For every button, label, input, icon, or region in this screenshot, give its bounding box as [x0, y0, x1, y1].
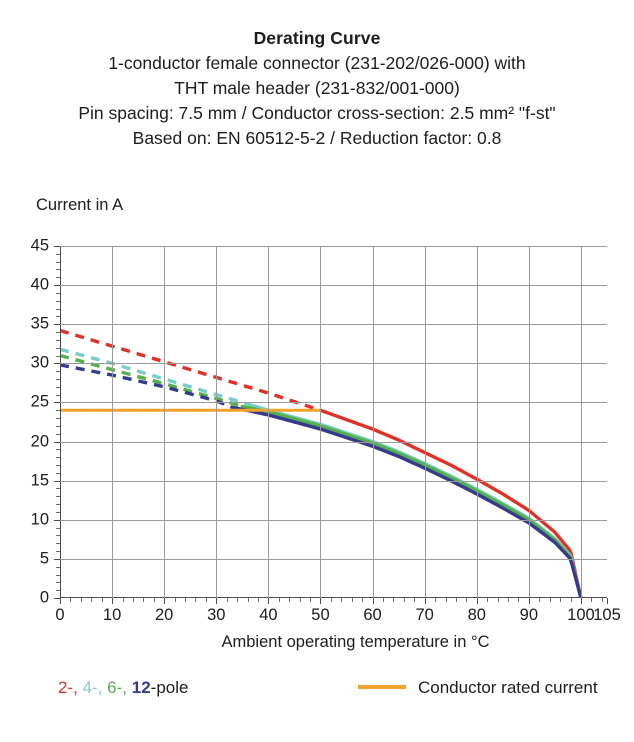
- y-axis-minor-tick: [56, 309, 60, 310]
- y-axis-minor-tick: [56, 316, 60, 317]
- title-subline-1: 1-conductor female connector (231-202/02…: [0, 51, 634, 76]
- y-axis-minor-tick: [56, 262, 60, 263]
- y-axis-minor-tick: [56, 457, 60, 458]
- title-subline-3: Pin spacing: 7.5 mm / Conductor cross-se…: [0, 101, 634, 126]
- y-axis-tick-label: 5: [40, 549, 49, 568]
- y-axis-tick-label: 25: [31, 393, 49, 412]
- x-axis-tick-label: 20: [155, 606, 173, 625]
- gridline-horizontal: [60, 442, 607, 443]
- y-axis-minor-tick: [56, 418, 60, 419]
- y-axis-minor-tick: [56, 488, 60, 489]
- x-axis-minor-tick: [237, 598, 238, 602]
- gridline-horizontal: [60, 246, 607, 247]
- x-axis-minor-tick: [466, 598, 467, 602]
- x-axis-tick: [320, 598, 321, 604]
- x-axis-minor-tick: [341, 598, 342, 602]
- y-axis-tick-label: 10: [31, 510, 49, 529]
- legend-item-2-pole: 2-: [58, 678, 73, 697]
- x-axis-minor-tick: [300, 598, 301, 602]
- y-axis-minor-tick: [56, 395, 60, 396]
- x-axis-minor-tick: [393, 598, 394, 602]
- y-axis-minor-tick: [56, 473, 60, 474]
- x-axis-minor-tick: [258, 598, 259, 602]
- y-axis-tick: [54, 285, 60, 286]
- x-axis-minor-tick: [227, 598, 228, 602]
- gridline-vertical: [373, 246, 374, 598]
- chart-legend: 2-, 4-, 6-, 12-pole Conductor rated curr…: [0, 678, 634, 718]
- x-axis-minor-tick: [571, 598, 572, 602]
- y-axis-minor-tick: [56, 410, 60, 411]
- legend-rated-current: Conductor rated current: [358, 678, 598, 698]
- x-axis-tick: [216, 598, 217, 604]
- y-axis-tick: [54, 402, 60, 403]
- x-axis-minor-tick: [331, 598, 332, 602]
- chart-title-block: Derating Curve 1-conductor female connec…: [0, 26, 634, 151]
- y-axis-minor-tick: [56, 426, 60, 427]
- x-axis-minor-tick: [550, 598, 551, 602]
- y-axis-minor-tick: [56, 254, 60, 255]
- y-axis-tick: [54, 442, 60, 443]
- x-axis-minor-tick: [456, 598, 457, 602]
- gridline-horizontal: [60, 481, 607, 482]
- x-axis-minor-tick: [279, 598, 280, 602]
- x-axis-tick-label: 0: [55, 606, 64, 625]
- x-axis-minor-tick: [591, 598, 592, 602]
- derating-chart: Current in A 051015202530354045010203040…: [0, 196, 634, 742]
- x-axis-minor-tick: [206, 598, 207, 602]
- x-axis-minor-tick: [289, 598, 290, 602]
- x-axis-tick: [425, 598, 426, 604]
- y-axis-tick: [54, 520, 60, 521]
- gridline-vertical: [268, 246, 269, 598]
- y-axis-tick-label: 0: [40, 589, 49, 608]
- y-axis-minor-tick: [56, 512, 60, 513]
- y-axis-minor-tick: [56, 332, 60, 333]
- y-axis-minor-tick: [56, 356, 60, 357]
- gridline-horizontal: [60, 363, 607, 364]
- gridline-horizontal: [60, 324, 607, 325]
- gridline-vertical: [425, 246, 426, 598]
- legend-item-4-pole: 4-: [83, 678, 98, 697]
- y-axis-tick-label: 40: [31, 276, 49, 295]
- x-axis-minor-tick: [518, 598, 519, 602]
- y-axis-minor-tick: [56, 434, 60, 435]
- plot-frame: [60, 246, 607, 598]
- gridline-vertical: [477, 246, 478, 598]
- y-axis-minor-tick: [56, 535, 60, 536]
- gridline-horizontal: [60, 520, 607, 521]
- x-axis-minor-tick: [539, 598, 540, 602]
- y-axis-minor-tick: [56, 551, 60, 552]
- plot-area: 0510152025303540450102030405060708090100…: [60, 246, 607, 598]
- x-axis-minor-tick: [508, 598, 509, 602]
- x-axis-minor-tick: [414, 598, 415, 602]
- y-axis-minor-tick: [56, 371, 60, 372]
- x-axis-tick: [268, 598, 269, 604]
- x-axis-minor-tick: [362, 598, 363, 602]
- x-axis-tick-label: 100: [567, 606, 595, 625]
- y-axis-minor-tick: [56, 504, 60, 505]
- y-axis-minor-tick: [56, 387, 60, 388]
- x-axis-tick-label: 40: [259, 606, 277, 625]
- legend-sep-2: ,: [98, 678, 107, 697]
- x-axis-tick-label: 50: [311, 606, 329, 625]
- gridline-horizontal: [60, 559, 607, 560]
- x-axis-minor-tick: [195, 598, 196, 602]
- legend-pole-suffix: -pole: [151, 678, 189, 697]
- y-axis-tick: [54, 246, 60, 247]
- y-axis-tick: [54, 481, 60, 482]
- y-axis-tick: [54, 363, 60, 364]
- x-axis-minor-tick: [143, 598, 144, 602]
- legend-item-12-pole: 12: [132, 678, 151, 697]
- x-axis-minor-tick: [70, 598, 71, 602]
- y-axis-minor-tick: [56, 379, 60, 380]
- x-axis-tick: [373, 598, 374, 604]
- x-axis-tick: [607, 598, 608, 604]
- y-axis-minor-tick: [56, 348, 60, 349]
- y-axis-tick: [54, 324, 60, 325]
- x-axis-minor-tick: [435, 598, 436, 602]
- x-axis-tick-label: 90: [520, 606, 538, 625]
- legend-rated-label: Conductor rated current: [418, 678, 598, 697]
- x-axis-minor-tick: [446, 598, 447, 602]
- y-axis-tick-label: 35: [31, 315, 49, 334]
- x-axis-minor-tick: [102, 598, 103, 602]
- title-subline-4: Based on: EN 60512-5-2 / Reduction facto…: [0, 126, 634, 151]
- x-axis-minor-tick: [175, 598, 176, 602]
- x-axis-tick-label: 10: [103, 606, 121, 625]
- y-axis-tick-label: 45: [31, 237, 49, 256]
- x-axis-minor-tick: [91, 598, 92, 602]
- page-title: Derating Curve: [0, 26, 634, 51]
- rated-current-swatch-icon: [358, 685, 406, 689]
- x-axis-tick: [112, 598, 113, 604]
- gridline-vertical: [112, 246, 113, 598]
- gridline-horizontal: [60, 402, 607, 403]
- x-axis-minor-tick: [81, 598, 82, 602]
- x-axis-minor-tick: [404, 598, 405, 602]
- x-axis-minor-tick: [383, 598, 384, 602]
- x-axis-minor-tick: [154, 598, 155, 602]
- x-axis-title: Ambient operating temperature in °C: [0, 633, 634, 652]
- y-axis-minor-tick: [56, 301, 60, 302]
- y-axis-tick-label: 15: [31, 471, 49, 490]
- gridline-horizontal: [60, 285, 607, 286]
- x-axis-tick: [529, 598, 530, 604]
- title-subline-2: THT male header (231-832/001-000): [0, 76, 634, 101]
- y-axis-minor-tick: [56, 277, 60, 278]
- x-axis-tick-label: 60: [363, 606, 381, 625]
- y-axis-title: Current in A: [36, 196, 123, 215]
- gridline-vertical: [216, 246, 217, 598]
- gridline-vertical: [581, 246, 582, 598]
- x-axis-minor-tick: [123, 598, 124, 602]
- x-axis-tick: [60, 598, 61, 604]
- y-axis-minor-tick: [56, 293, 60, 294]
- y-axis-minor-tick: [56, 582, 60, 583]
- x-axis-minor-tick: [248, 598, 249, 602]
- x-axis-minor-tick: [310, 598, 311, 602]
- y-axis-minor-tick: [56, 449, 60, 450]
- x-axis-minor-tick: [560, 598, 561, 602]
- x-axis-minor-tick: [602, 598, 603, 602]
- gridline-vertical: [320, 246, 321, 598]
- x-axis-minor-tick: [352, 598, 353, 602]
- y-axis-minor-tick: [56, 340, 60, 341]
- y-axis-minor-tick: [56, 567, 60, 568]
- x-axis-tick-label: 105: [593, 606, 621, 625]
- y-axis-minor-tick: [56, 528, 60, 529]
- legend-sep-1: ,: [73, 678, 82, 697]
- legend-item-6-pole: 6-: [107, 678, 122, 697]
- x-axis-tick-label: 30: [207, 606, 225, 625]
- legend-sep-3: ,: [122, 678, 131, 697]
- x-axis-tick-label: 80: [468, 606, 486, 625]
- y-axis-minor-tick: [56, 465, 60, 466]
- y-axis-tick-label: 20: [31, 432, 49, 451]
- y-axis-minor-tick: [56, 269, 60, 270]
- y-axis-minor-tick: [56, 590, 60, 591]
- legend-series-poles: 2-, 4-, 6-, 12-pole: [58, 678, 188, 698]
- gridline-vertical: [164, 246, 165, 598]
- x-axis-minor-tick: [185, 598, 186, 602]
- y-axis-tick-label: 30: [31, 354, 49, 373]
- x-axis-tick: [477, 598, 478, 604]
- x-axis-tick-label: 70: [415, 606, 433, 625]
- y-axis-minor-tick: [56, 543, 60, 544]
- x-axis-minor-tick: [498, 598, 499, 602]
- gridline-vertical: [529, 246, 530, 598]
- x-axis-tick: [164, 598, 165, 604]
- x-axis-tick: [581, 598, 582, 604]
- y-axis-minor-tick: [56, 575, 60, 576]
- y-axis-tick: [54, 559, 60, 560]
- x-axis-minor-tick: [133, 598, 134, 602]
- x-axis-minor-tick: [487, 598, 488, 602]
- y-axis-minor-tick: [56, 496, 60, 497]
